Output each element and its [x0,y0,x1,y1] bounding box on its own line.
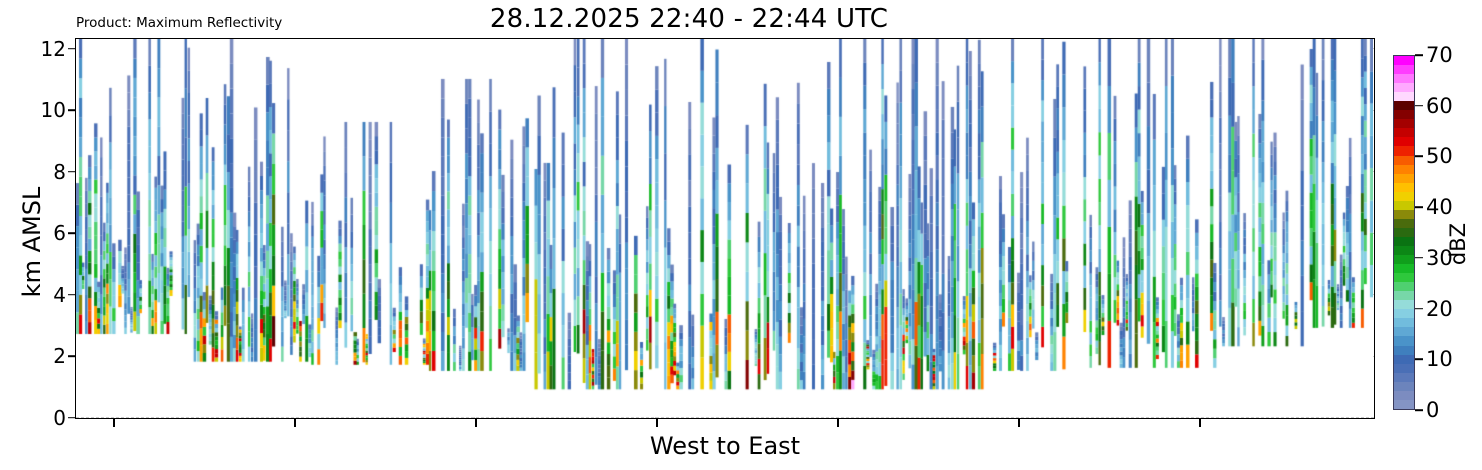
colorbar-tick-mark [1415,409,1423,411]
y-tick-mark [68,232,75,234]
colorbar-band [1394,346,1414,355]
y-tick-label-2: 2 [0,344,66,368]
colorbar-tick-mark [1415,156,1423,158]
colorbar-tick-label-20: 20 [1426,297,1453,321]
reflectivity-field [76,39,1374,418]
colorbar-band [1394,201,1414,210]
colorbar-band [1394,291,1414,300]
x-tick-mark [294,419,296,427]
colorbar-band [1394,327,1414,336]
colorbar-tick-label-40: 40 [1426,195,1453,219]
y-tick-label-8: 8 [0,160,66,184]
colorbar-band [1394,146,1414,155]
y-tick-mark [68,171,75,173]
x-tick-mark [656,419,658,427]
y-tick-mark [68,109,75,111]
colorbar-band [1394,282,1414,291]
colorbar-band [1394,92,1414,101]
colorbar-band [1394,65,1414,74]
colorbar-band [1394,382,1414,391]
colorbar-band [1394,119,1414,128]
y-tick-label-0: 0 [0,406,66,430]
colorbar-band [1394,318,1414,327]
colorbar-band [1394,56,1414,65]
y-tick-label-4: 4 [0,283,66,307]
colorbar-band [1394,165,1414,174]
colorbar-tick-mark [1415,308,1423,310]
colorbar-tick-label-50: 50 [1426,144,1453,168]
colorbar-tick-mark [1415,257,1423,259]
y-tick-mark [68,355,75,357]
colorbar-band [1394,183,1414,192]
colorbar-band [1394,400,1414,409]
colorbar-tick-label-70: 70 [1426,43,1453,67]
colorbar-band [1394,83,1414,92]
colorbar-band [1394,110,1414,119]
colorbar [1393,55,1415,410]
x-axis-label: West to East [75,432,1375,460]
colorbar-band [1394,101,1414,110]
colorbar-band [1394,309,1414,318]
colorbar-tick-mark [1415,54,1423,56]
colorbar-band [1394,364,1414,373]
colorbar-band [1394,237,1414,246]
y-tick-mark [68,417,75,419]
colorbar-band [1394,264,1414,273]
x-tick-mark [837,419,839,427]
radar-cross-section-figure: 28.12.2025 22:40 - 22:44 UTC Product: Ma… [0,0,1482,470]
colorbar-tick-mark [1415,105,1423,107]
colorbar-band [1394,192,1414,201]
colorbar-band [1394,128,1414,137]
y-tick-label-10: 10 [0,98,66,122]
y-tick-label-6: 6 [0,221,66,245]
x-tick-mark [475,419,477,427]
x-tick-mark [113,419,115,427]
colorbar-tick-label-10: 10 [1426,347,1453,371]
colorbar-band [1394,355,1414,364]
y-tick-mark [68,48,75,50]
product-annotation: Product: Maximum Reflectivity [76,15,282,31]
y-tick-mark [68,294,75,296]
colorbar-band [1394,174,1414,183]
colorbar-band [1394,219,1414,228]
colorbar-tick-label-0: 0 [1426,398,1439,422]
colorbar-band [1394,210,1414,219]
colorbar-tick-mark [1415,206,1423,208]
colorbar-tick-mark [1415,358,1423,360]
colorbar-band [1394,373,1414,382]
reflectivity-canvas [76,39,1373,417]
x-tick-mark [1199,419,1201,427]
colorbar-tick-label-60: 60 [1426,94,1453,118]
colorbar-band [1394,300,1414,309]
x-tick-mark [1018,419,1020,427]
colorbar-band [1394,246,1414,255]
colorbar-band [1394,336,1414,345]
colorbar-band [1394,273,1414,282]
plot-area [75,38,1375,419]
colorbar-band [1394,156,1414,165]
colorbar-band [1394,74,1414,83]
colorbar-band [1394,391,1414,400]
y-tick-label-12: 12 [0,37,66,61]
colorbar-band [1394,137,1414,146]
colorbar-tick-label-30: 30 [1426,246,1453,270]
colorbar-band [1394,228,1414,237]
colorbar-band [1394,255,1414,264]
